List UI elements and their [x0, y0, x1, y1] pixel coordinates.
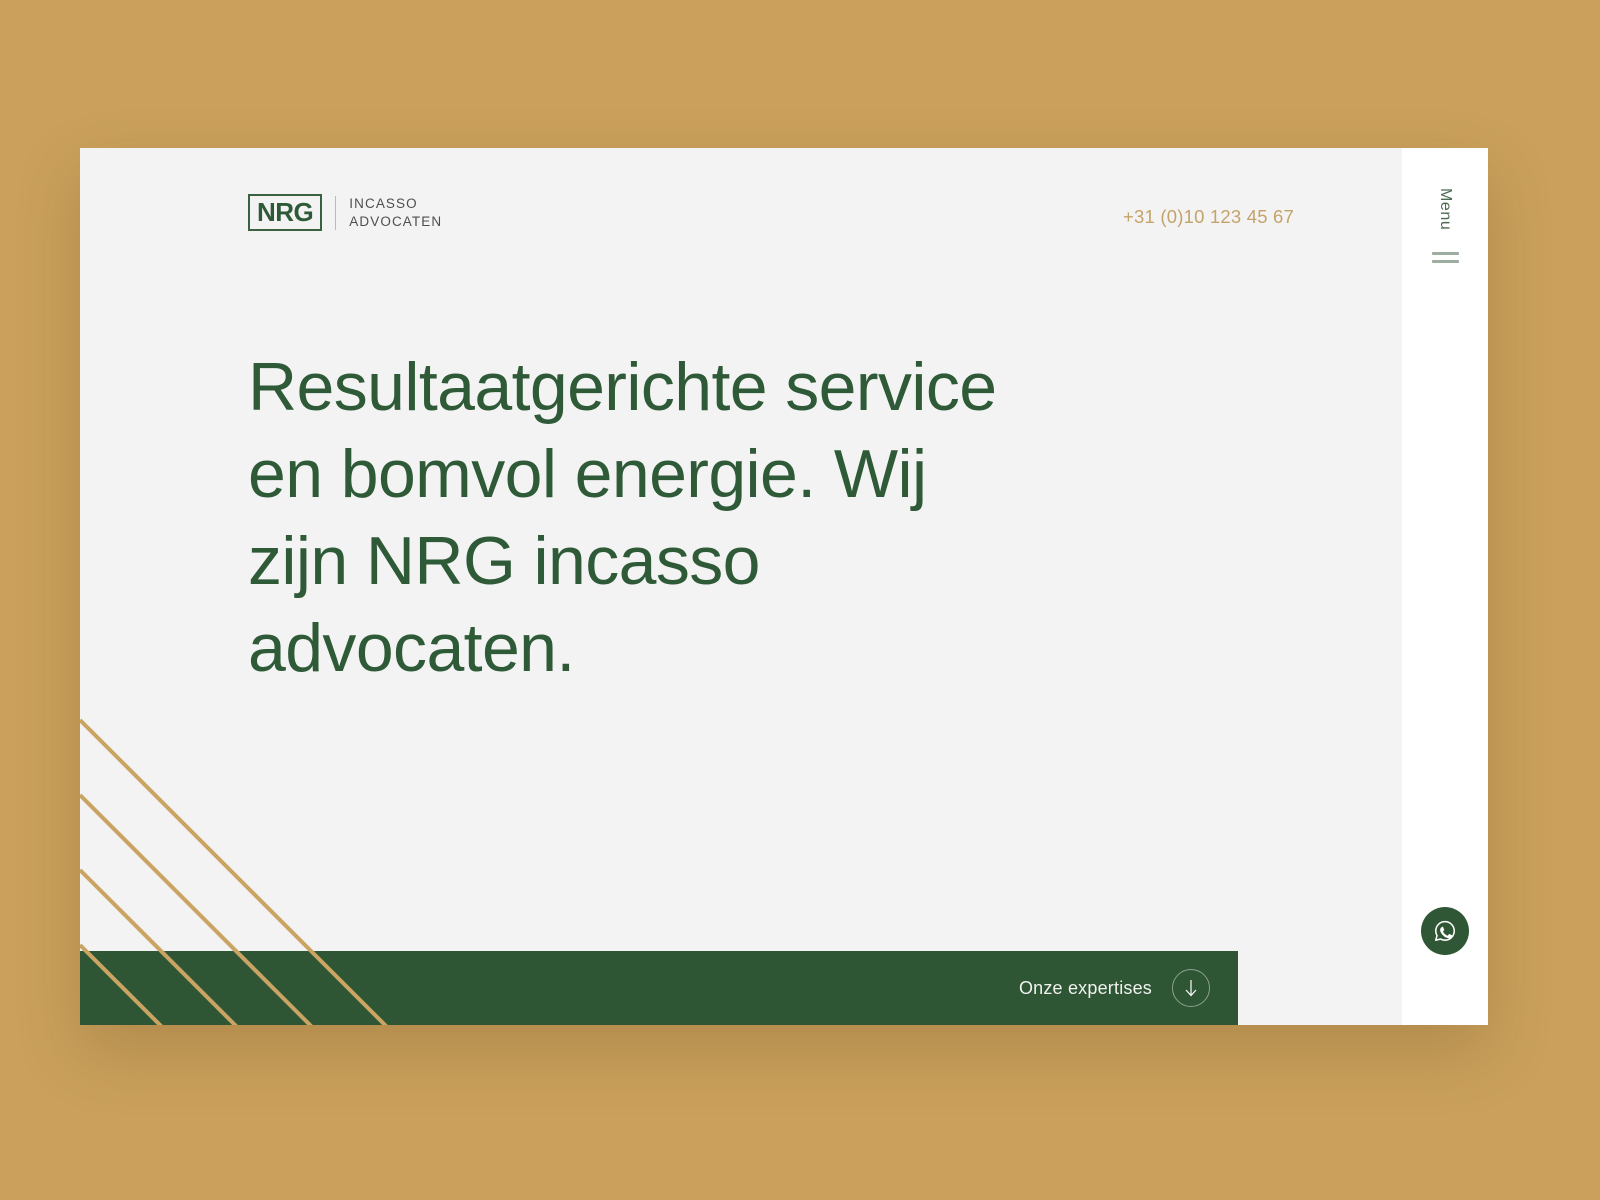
right-rail: Menu [1402, 148, 1488, 1025]
site-header: NRG INCASSO ADVOCATEN +31 (0)10 123 45 6… [80, 148, 1402, 288]
onze-expertises-link[interactable]: Onze expertises [1019, 969, 1210, 1007]
hamburger-icon [1432, 252, 1459, 263]
arrow-down-icon[interactable] [1172, 969, 1210, 1007]
logo-word-line1: INCASSO [349, 196, 442, 212]
expertise-bar: Onze expertises [80, 951, 1238, 1025]
page-title: Resultaatgerichte service en bomvol ener… [248, 344, 1008, 692]
menu-label: Menu [1437, 188, 1453, 230]
logo-word-line2: ADVOCATEN [349, 214, 442, 230]
whatsapp-button[interactable] [1421, 907, 1469, 955]
hero-section: Resultaatgerichte service en bomvol ener… [248, 344, 1008, 692]
site-card: NRG INCASSO ADVOCATEN +31 (0)10 123 45 6… [80, 148, 1488, 1025]
whatsapp-icon [1432, 918, 1458, 944]
logo-mark: NRG [248, 194, 322, 231]
brand-logo[interactable]: NRG INCASSO ADVOCATEN [248, 194, 442, 231]
menu-toggle-button[interactable]: Menu [1402, 188, 1488, 263]
expertise-label: Onze expertises [1019, 978, 1152, 999]
logo-wordmark: INCASSO ADVOCATEN [349, 196, 442, 230]
header-phone-link[interactable]: +31 (0)10 123 45 67 [1123, 206, 1294, 228]
logo-divider [335, 196, 336, 230]
